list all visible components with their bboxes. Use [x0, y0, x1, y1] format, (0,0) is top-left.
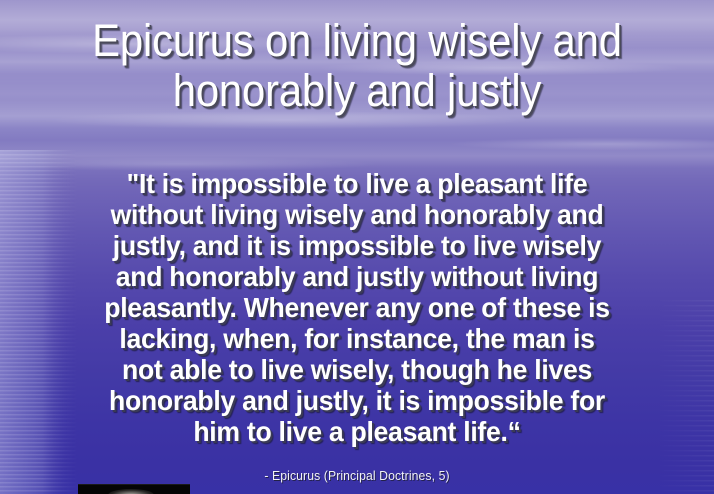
slide-title: Epicurus on living wisely and honorably … — [25, 16, 689, 116]
quote-attribution: - Epicurus (Principal Doctrines, 5) — [21, 468, 692, 484]
quote-text: "It is impossible to live a pleasant lif… — [25, 168, 688, 447]
portrait-photo-thumbnail — [78, 484, 190, 494]
presentation-slide: Epicurus on living wisely and honorably … — [0, 0, 714, 494]
portrait-highlight — [108, 489, 154, 494]
